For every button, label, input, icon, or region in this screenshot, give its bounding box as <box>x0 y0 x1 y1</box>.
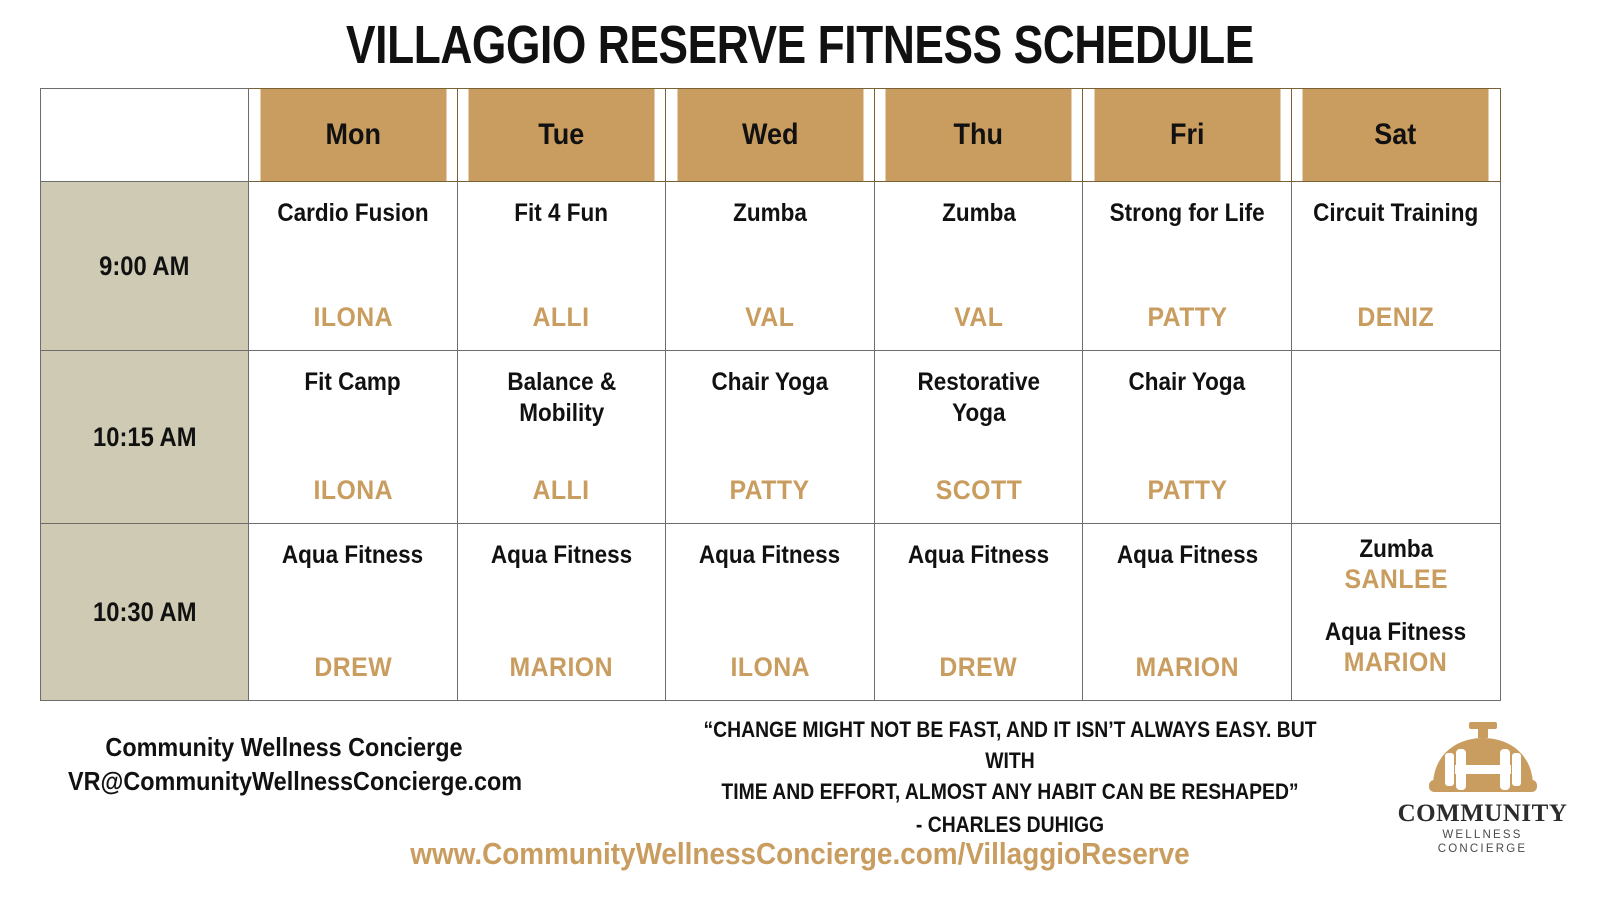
fitness-schedule-flyer: VILLAGGIO RESERVE FITNESS SCHEDULE Mon T… <box>0 0 1600 900</box>
class-name: Aqua Fitness <box>908 540 1049 571</box>
header-corner-cell <box>51 89 238 182</box>
instructor-name: VAL <box>954 302 1003 332</box>
header-day-tue: Tue <box>468 89 656 182</box>
class-cell-mon-1030[interactable]: Aqua Fitness DREW <box>249 524 458 701</box>
class-cell-fri-1030[interactable]: Aqua Fitness MARION <box>1083 524 1292 701</box>
instructor-name: MARION <box>1135 652 1239 682</box>
class-cell-wed-900[interactable]: Zumba VAL <box>666 182 875 351</box>
class-name: Zumba <box>733 198 807 229</box>
header-day-sat: Sat <box>1302 89 1490 182</box>
class-name: Balance & Mobility <box>472 367 652 429</box>
class-cell-tue-1030[interactable]: Aqua Fitness MARION <box>457 524 666 701</box>
logo-brand-text: COMMUNITY <box>1395 800 1570 828</box>
class-cell-sat-1015-empty[interactable] <box>1291 351 1500 524</box>
schedule-table-wrapper: Mon Tue Wed Thu Fri Sat 9:00 AM Cardio F… <box>40 88 1500 701</box>
class-name: Aqua Fitness <box>491 540 632 571</box>
instructor-name: ILONA <box>313 475 393 505</box>
instructor-name: ALLI <box>533 302 590 332</box>
instructor-name: PATTY <box>730 475 810 505</box>
class-cell-thu-900[interactable]: Zumba VAL <box>874 182 1083 351</box>
instructor-name: PATTY <box>1147 475 1227 505</box>
concierge-bell-dumbbell-icon <box>1395 722 1570 800</box>
class-entry: Aqua Fitness MARION <box>1317 617 1474 678</box>
class-name: Strong for Life <box>1110 198 1265 229</box>
class-name: Aqua Fitness <box>699 540 840 571</box>
quote-line-2: TIME AND EFFORT, ALMOST ANY HABIT CAN BE… <box>684 776 1335 807</box>
class-name: Zumba <box>1345 534 1446 564</box>
instructor-name: ILONA <box>730 652 810 682</box>
class-name: Aqua Fitness <box>1117 540 1258 571</box>
instructor-name: SANLEE <box>1344 564 1448 595</box>
instructor-name: SCOTT <box>935 475 1021 505</box>
instructor-name: DREW <box>314 652 392 682</box>
instructor-name: PATTY <box>1147 302 1227 332</box>
quote-block: “CHANGE MIGHT NOT BE FAST, AND IT ISN’T … <box>640 714 1380 840</box>
header-day-mon: Mon <box>259 89 447 182</box>
instructor-name: MARION <box>1324 647 1468 678</box>
class-name: Aqua Fitness <box>1325 617 1466 647</box>
class-name: Circuit Training <box>1313 198 1478 229</box>
time-label-1015: 10:15 AM <box>41 351 249 524</box>
class-name: Aqua Fitness <box>282 540 423 571</box>
class-name: Chair Yoga <box>712 367 829 398</box>
class-cell-wed-1015[interactable]: Chair Yoga PATTY <box>666 351 875 524</box>
schedule-table: Mon Tue Wed Thu Fri Sat 9:00 AM Cardio F… <box>40 88 1501 701</box>
class-cell-tue-900[interactable]: Fit 4 Fun ALLI <box>457 182 666 351</box>
class-entry: Zumba SANLEE <box>1340 534 1453 595</box>
header-day-wed: Wed <box>676 89 864 182</box>
page-title: VILLAGGIO RESERVE FITNESS SCHEDULE <box>144 14 1456 76</box>
class-cell-fri-900[interactable]: Strong for Life PATTY <box>1083 182 1292 351</box>
class-cell-tue-1015[interactable]: Balance & Mobility ALLI <box>457 351 666 524</box>
time-label-900: 9:00 AM <box>41 182 249 351</box>
class-cell-thu-1015[interactable]: Restorative Yoga SCOTT <box>874 351 1083 524</box>
class-cell-mon-900[interactable]: Cardio Fusion ILONA <box>249 182 458 351</box>
class-cell-sat-1030[interactable]: Zumba SANLEE Aqua Fitness MARION <box>1291 524 1500 701</box>
class-name: Fit Camp <box>305 367 401 398</box>
instructor-name: DENIZ <box>1357 302 1434 332</box>
contact-block: Community Wellness Concierge VR@Communit… <box>44 730 524 798</box>
class-cell-wed-1030[interactable]: Aqua Fitness ILONA <box>666 524 875 701</box>
logo-tagline-text: WELLNESS CONCIERGE <box>1395 828 1570 856</box>
class-name: Cardio Fusion <box>277 198 428 229</box>
instructor-name: ILONA <box>313 302 393 332</box>
logo: COMMUNITY WELLNESS CONCIERGE <box>1395 722 1570 856</box>
class-cell-mon-1015[interactable]: Fit Camp ILONA <box>249 351 458 524</box>
class-cell-fri-1015[interactable]: Chair Yoga PATTY <box>1083 351 1292 524</box>
quote-line-1: “CHANGE MIGHT NOT BE FAST, AND IT ISN’T … <box>684 714 1335 776</box>
instructor-name: DREW <box>940 652 1018 682</box>
header-day-thu: Thu <box>885 89 1073 182</box>
contact-email[interactable]: VR@CommunityWellnessConcierge.com <box>68 764 500 798</box>
class-name: Restorative Yoga <box>889 367 1069 429</box>
class-cell-sat-900[interactable]: Circuit Training DENIZ <box>1291 182 1500 351</box>
header-day-fri: Fri <box>1093 89 1281 182</box>
class-name: Chair Yoga <box>1129 367 1246 398</box>
table-row: 9:00 AM Cardio Fusion ILONA Fit 4 Fun AL… <box>41 182 1501 351</box>
table-header-row: Mon Tue Wed Thu Fri Sat <box>41 89 1501 182</box>
class-cell-thu-1030[interactable]: Aqua Fitness DREW <box>874 524 1083 701</box>
class-name: Zumba <box>942 198 1016 229</box>
contact-name: Community Wellness Concierge <box>68 730 500 764</box>
instructor-name: MARION <box>510 652 614 682</box>
table-row: 10:15 AM Fit Camp ILONA Balance & Mobili… <box>41 351 1501 524</box>
website-url[interactable]: www.CommunityWellnessConcierge.com/Villa… <box>0 836 1600 872</box>
time-label-1030: 10:30 AM <box>41 524 249 701</box>
instructor-name: ALLI <box>533 475 590 505</box>
table-row: 10:30 AM Aqua Fitness DREW Aqua Fitness … <box>41 524 1501 701</box>
instructor-name: VAL <box>745 302 794 332</box>
class-name: Fit 4 Fun <box>515 198 609 229</box>
